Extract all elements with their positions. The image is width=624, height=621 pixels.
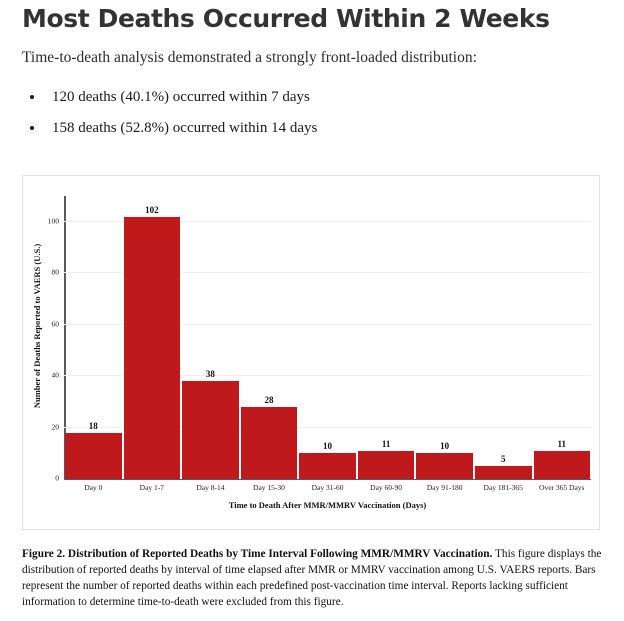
x-axis-tick-label: Day 91-180 — [415, 483, 474, 492]
bar-slot: 10 — [415, 196, 474, 479]
page-title: Most Deaths Occurred Within 2 Weeks — [22, 4, 602, 34]
bar-value-label: 5 — [475, 454, 532, 464]
x-axis-tick-label: Day 8-14 — [181, 483, 240, 492]
x-axis-tick-label: Day 15-30 — [240, 483, 299, 492]
bar[interactable]: 10 — [416, 453, 473, 479]
bar[interactable]: 38 — [182, 381, 239, 479]
y-axis-tick-label: 20 — [52, 422, 60, 431]
chart-panel: Number of Deaths Reported to VAERS (U.S.… — [22, 175, 600, 530]
subtitle-text: Time-to-death analysis demonstrated a st… — [22, 48, 602, 68]
bar-slot: 10 — [298, 196, 357, 479]
bar-value-label: 11 — [534, 439, 591, 449]
y-axis-tick-label: 60 — [52, 319, 60, 328]
x-axis-tick-label: Day 31-60 — [298, 483, 357, 492]
bar-value-label: 10 — [299, 441, 356, 451]
bar[interactable]: 5 — [475, 466, 532, 479]
bar[interactable]: 11 — [534, 451, 591, 479]
bar-slot: 11 — [533, 196, 592, 479]
y-axis-title-label: Number of Deaths Reported to VAERS (U.S.… — [32, 244, 42, 408]
bar[interactable]: 10 — [299, 453, 356, 479]
y-axis-tick-label: 100 — [48, 216, 59, 225]
x-axis-tick-label: Day 60-90 — [357, 483, 416, 492]
bar-slot: 102 — [123, 196, 182, 479]
list-item: 120 deaths (40.1%) occurred within 7 day… — [22, 88, 602, 107]
x-axis-tick-label: Over 365 Days — [533, 483, 592, 492]
figure-caption: Figure 2. Distribution of Reported Death… — [22, 546, 604, 610]
bar-value-label: 10 — [416, 441, 473, 451]
bar-value-label: 28 — [241, 395, 298, 405]
bar[interactable]: 102 — [124, 217, 181, 479]
bar-value-label: 38 — [182, 369, 239, 379]
bar[interactable]: 18 — [65, 433, 122, 479]
key-findings-list: 120 deaths (40.1%) occurred within 7 day… — [22, 88, 602, 150]
bar-value-label: 102 — [124, 205, 181, 215]
bar-slot: 18 — [64, 196, 123, 479]
caption-lead: Figure 2. Distribution of Reported Death… — [22, 548, 492, 560]
bar-value-label: 11 — [358, 439, 415, 449]
x-axis-tick-label: Day 0 — [64, 483, 123, 492]
y-axis-title: Number of Deaths Reported to VAERS (U.S.… — [29, 176, 45, 476]
bar-value-label: 18 — [65, 421, 122, 431]
bar-slot: 5 — [474, 196, 533, 479]
x-axis-line — [64, 479, 591, 480]
x-axis-tick-label: Day 1-7 — [123, 483, 182, 492]
bar-slot: 38 — [181, 196, 240, 479]
bar-slot: 28 — [240, 196, 299, 479]
bar-series: 181023828101110511 — [64, 196, 591, 479]
bar-slot: 11 — [357, 196, 416, 479]
y-axis-tick-label: 80 — [52, 268, 60, 277]
y-axis-tick-label: 40 — [52, 371, 60, 380]
x-axis-title: Time to Death After MMR/MMRV Vaccination… — [64, 500, 591, 510]
y-axis-tick-label: 0 — [55, 474, 59, 483]
bar[interactable]: 28 — [241, 407, 298, 479]
plot-area: 020406080100 181023828101110511 — [64, 196, 591, 479]
x-axis-tick-label: Day 181-365 — [474, 483, 533, 492]
bar[interactable]: 11 — [358, 451, 415, 479]
list-item: 158 deaths (52.8%) occurred within 14 da… — [22, 119, 602, 138]
x-axis-tick-labels: Day 0Day 1-7Day 8-14Day 15-30Day 31-60Da… — [64, 483, 591, 492]
